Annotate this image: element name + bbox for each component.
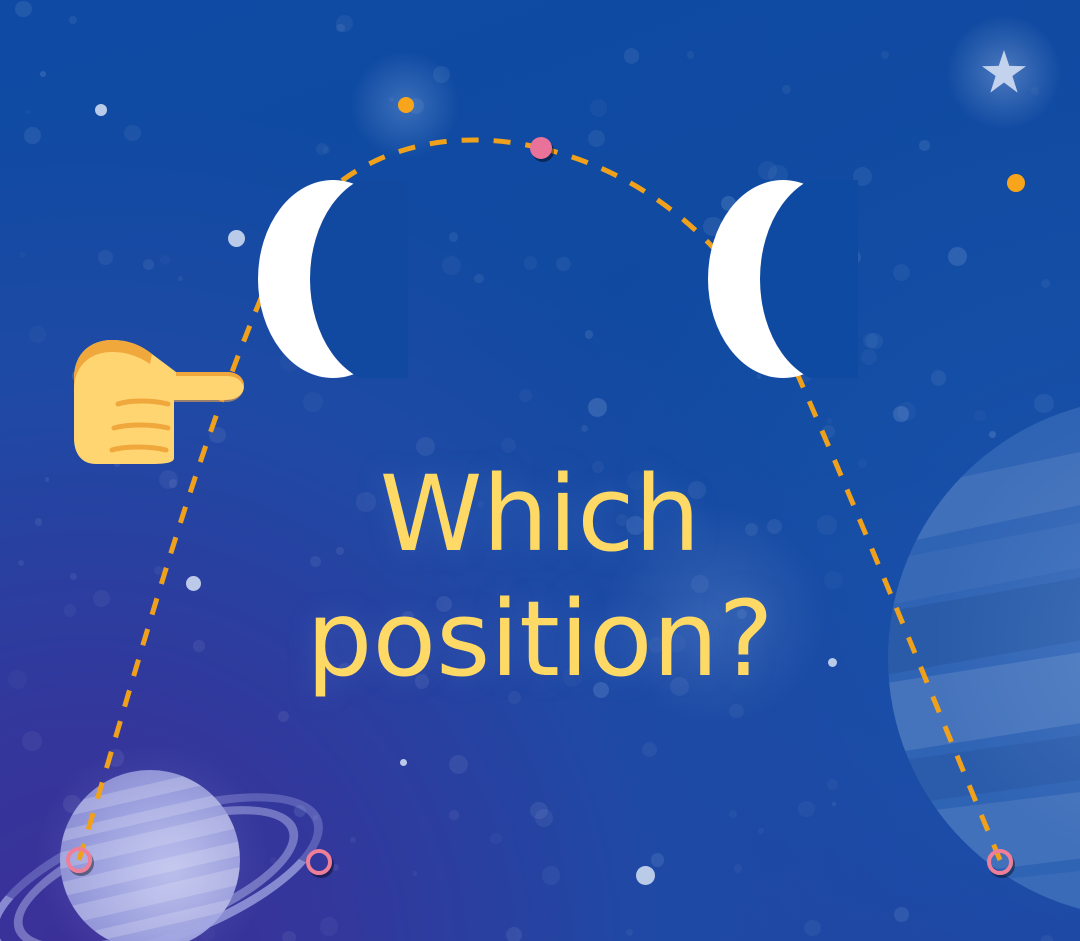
orange-dot-top (398, 97, 414, 113)
star-speck (1034, 394, 1054, 414)
star-speck (124, 125, 140, 141)
star-speck (822, 425, 835, 438)
star-speck (804, 920, 821, 937)
marker-apex[interactable] (530, 137, 552, 159)
pointing-right-hand-icon (56, 326, 248, 466)
marker-bottom-left[interactable] (66, 847, 92, 873)
star-speck (336, 24, 344, 32)
star-speck (303, 392, 323, 412)
star-speck (948, 247, 967, 266)
star-speck-bright (228, 230, 245, 247)
star-speck (989, 431, 996, 438)
star-speck (734, 864, 743, 873)
star-speck (69, 16, 77, 24)
star-speck (758, 828, 764, 834)
star-speck-bright (95, 104, 107, 116)
star-speck (626, 929, 633, 936)
star-speck (893, 264, 910, 281)
star-speck (474, 274, 484, 284)
star-speck (556, 257, 571, 272)
star-speck (25, 110, 30, 115)
star-speck (588, 398, 607, 417)
star-speck (931, 370, 947, 386)
star-speck (143, 259, 153, 269)
star-speck (590, 99, 607, 116)
star-speck (20, 252, 26, 258)
star-speck (323, 146, 330, 153)
star-speck-bright (636, 866, 655, 885)
star-speck (332, 864, 339, 871)
star-speck (861, 349, 877, 365)
star-speck (160, 255, 170, 265)
star-speck (29, 326, 46, 343)
star-speck (1041, 935, 1053, 941)
star-speck (687, 51, 694, 58)
star-speck (524, 256, 538, 270)
star-speck (24, 127, 41, 144)
marker-bottom-right[interactable] (987, 849, 1013, 875)
star-speck (624, 48, 639, 63)
marker-bottom-mid[interactable] (306, 849, 332, 875)
star-speck (278, 711, 289, 722)
star-speck (15, 1, 31, 17)
star-speck (442, 256, 461, 275)
star-speck (919, 140, 929, 150)
crescent-moon-left (258, 180, 408, 378)
space-scene: Which position? (0, 0, 1080, 941)
star-speck (449, 810, 459, 820)
star-speck (881, 51, 889, 59)
star-speck (651, 853, 665, 867)
star-speck (433, 66, 450, 83)
star-speck (897, 402, 916, 421)
star-speck (1031, 87, 1039, 95)
orange-dot-right (1007, 174, 1025, 192)
saturn-planet (0, 740, 312, 941)
star-speck (974, 410, 985, 421)
star-speck (866, 333, 882, 349)
star-speck (798, 801, 814, 817)
crescent-moon-right (708, 180, 858, 378)
star-speck (178, 276, 183, 281)
star-speck (413, 871, 418, 876)
star-speck-bright (400, 759, 407, 766)
star-speck (506, 927, 522, 941)
star-speck (827, 779, 837, 789)
star-speck (542, 866, 561, 885)
star-speck (1041, 279, 1050, 288)
page-title: Which position? (0, 452, 1080, 702)
star-speck (40, 71, 46, 77)
star-speck (320, 917, 338, 935)
star-speck (98, 250, 113, 265)
